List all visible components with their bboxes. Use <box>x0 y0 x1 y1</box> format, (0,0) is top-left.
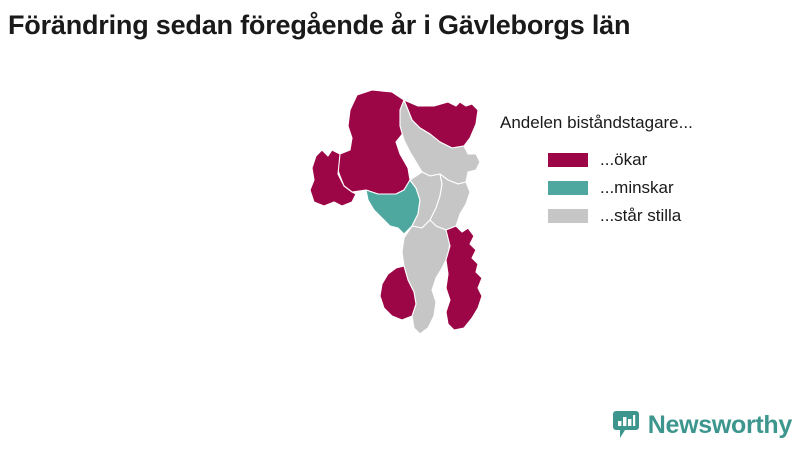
legend: Andelen biståndstagare... ...ökar ...min… <box>500 112 800 230</box>
legend-item-unchanged[interactable]: ...står stilla <box>500 202 800 230</box>
legend-label-increases: ...ökar <box>600 149 647 171</box>
page-title: Förändring sedan föregående år i Gävlebo… <box>8 8 792 42</box>
newsworthy-logo[interactable]: Newsworthy <box>613 408 792 442</box>
map-region-nordwest-large[interactable] <box>336 90 410 194</box>
bar-chart-speech-bubble-icon <box>613 411 639 439</box>
logo-wordmark: Newsworthy <box>648 411 792 439</box>
chart-canvas: Förändring sedan föregående år i Gävlebo… <box>0 0 800 450</box>
choropleth-map <box>300 80 515 365</box>
legend-swatch-increases <box>548 153 588 167</box>
legend-swatch-unchanged <box>548 209 588 223</box>
legend-item-decreases[interactable]: ...minskar <box>500 174 800 202</box>
legend-item-increases[interactable]: ...ökar <box>500 146 800 174</box>
legend-title: Andelen biståndstagare... <box>500 112 800 134</box>
legend-swatch-decreases <box>548 181 588 195</box>
map-region-east-coast-south[interactable] <box>446 226 482 330</box>
map-svg <box>300 80 515 365</box>
legend-label-unchanged: ...står stilla <box>600 205 681 227</box>
legend-label-decreases: ...minskar <box>600 177 674 199</box>
